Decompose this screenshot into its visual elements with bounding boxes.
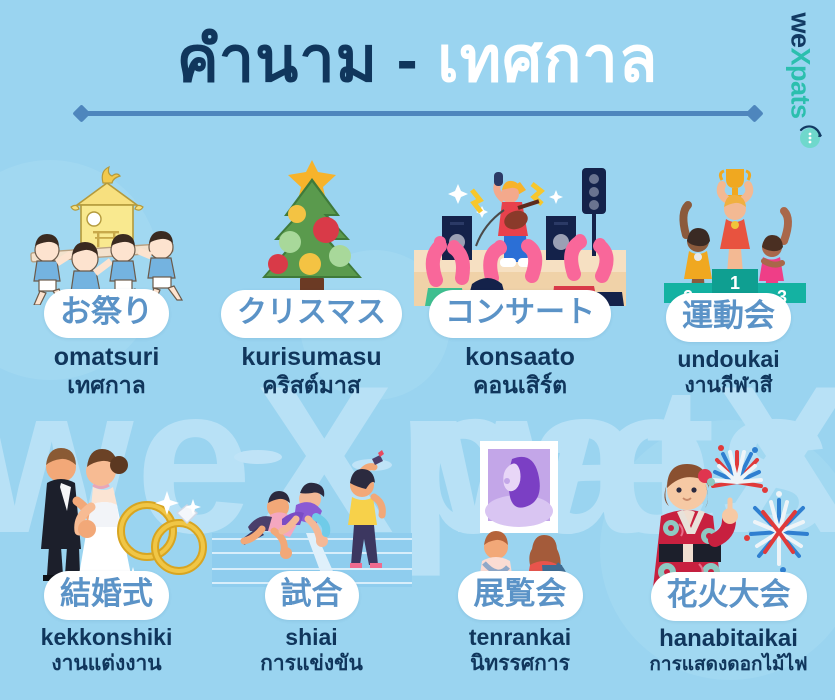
thai-translation: นิทรรศการ	[470, 652, 570, 676]
japanese-word: お祭り	[60, 296, 153, 329]
japanese-word: 運動会	[682, 300, 775, 333]
japanese-word: 花火大会	[667, 579, 791, 612]
japanese-word: 展覧会	[474, 578, 567, 611]
sports-podium-winners-illustration: 1 2 3 ★	[626, 157, 831, 309]
word-pill[interactable]: コンサート	[429, 290, 611, 338]
romaji-reading: konsaato	[465, 343, 575, 371]
wedding-couple-rings-illustration	[4, 435, 209, 587]
japanese-word: コンサート	[445, 297, 595, 329]
title-noun-part: คำนาม	[177, 25, 379, 95]
wexpats-logo: weXpats	[787, 6, 831, 156]
christmas-tree-illustration	[209, 154, 414, 306]
romaji-reading: shiai	[285, 625, 337, 651]
card-konsaato[interactable]: コンサート konsaato คอนเสิร์ต	[414, 122, 626, 400]
word-pill[interactable]: 試合	[265, 571, 359, 620]
festival-mikoshi-children-illustration	[4, 153, 209, 305]
word-pill[interactable]: 運動会	[666, 293, 791, 342]
card-kekkonshiki[interactable]: 結婚式 kekkonshiki งานแต่งงาน	[4, 400, 209, 678]
card-shiai[interactable]: 試合 shiai การแข่งขัน	[209, 400, 414, 678]
japanese-word: 試合	[281, 578, 343, 611]
page-title: คำนาม - เทศกาล	[0, 26, 835, 94]
romaji-reading: undoukai	[677, 347, 779, 373]
thai-translation: การแข่งขัน	[260, 652, 363, 676]
thai-translation: การแสดงดอกไม้ไฟ	[649, 654, 807, 676]
card-kurisumasu[interactable]: クリスマス kurisumasu คริสต์มาส	[209, 122, 414, 400]
card-hanabitaikai[interactable]: 花火大会 hanabitaikai การแสดงดอกไม้ไฟ	[626, 400, 831, 678]
wexpats-logo-text: weXpats	[784, 12, 815, 118]
logo-we-text: we	[785, 12, 815, 47]
romaji-reading: kurisumasu	[241, 343, 381, 371]
romaji-reading: hanabitaikai	[659, 626, 798, 653]
japanese-word: 結婚式	[60, 578, 153, 611]
race-starting-line-illustration	[209, 435, 414, 587]
card-omatsuri[interactable]: お祭り omatsuri เทศกาล	[4, 122, 209, 400]
word-pill[interactable]: クリスマス	[221, 290, 402, 338]
title-topic-part: เทศกาล	[437, 25, 658, 95]
logo-pats-text: pats	[785, 65, 815, 119]
circle-dots-icon	[795, 122, 825, 152]
word-pill[interactable]: 展覧会	[458, 571, 583, 620]
romaji-reading: omatsuri	[54, 343, 160, 371]
thai-translation: งานกีฬาสี	[684, 374, 772, 398]
logo-x-text: X	[785, 47, 815, 65]
header-divider	[73, 104, 763, 122]
card-tenrankai[interactable]: 展覧会 tenrankai นิทรรศการ	[414, 400, 626, 678]
word-pill[interactable]: 結婚式	[44, 571, 169, 620]
word-pill[interactable]: お祭り	[44, 289, 169, 338]
page-header: คำนาม - เทศกาล	[0, 0, 835, 122]
thai-translation: เทศกาล	[67, 372, 146, 398]
vocabulary-grid: お祭り omatsuri เทศกาล	[0, 122, 835, 678]
fireworks-yukata-girl-illustration	[626, 436, 831, 588]
divider-diamond-right-icon	[745, 104, 763, 122]
word-pill[interactable]: 花火大会	[651, 572, 807, 621]
thai-translation: งานแต่งงาน	[51, 652, 161, 676]
thai-translation: คริสต์มาส	[262, 372, 361, 398]
title-separator: -	[397, 25, 419, 95]
concert-stage-crowd-illustration	[414, 154, 626, 306]
divider-line	[83, 111, 753, 116]
card-undoukai[interactable]: 1 2 3 ★ 運動会 undoukai งานกีฬาสี	[626, 122, 831, 400]
art-exhibition-visitors-illustration	[414, 435, 626, 587]
romaji-reading: tenrankai	[469, 625, 571, 651]
thai-translation: คอนเสิร์ต	[473, 372, 567, 398]
japanese-word: クリスマス	[237, 297, 386, 329]
romaji-reading: kekkonshiki	[41, 625, 173, 651]
